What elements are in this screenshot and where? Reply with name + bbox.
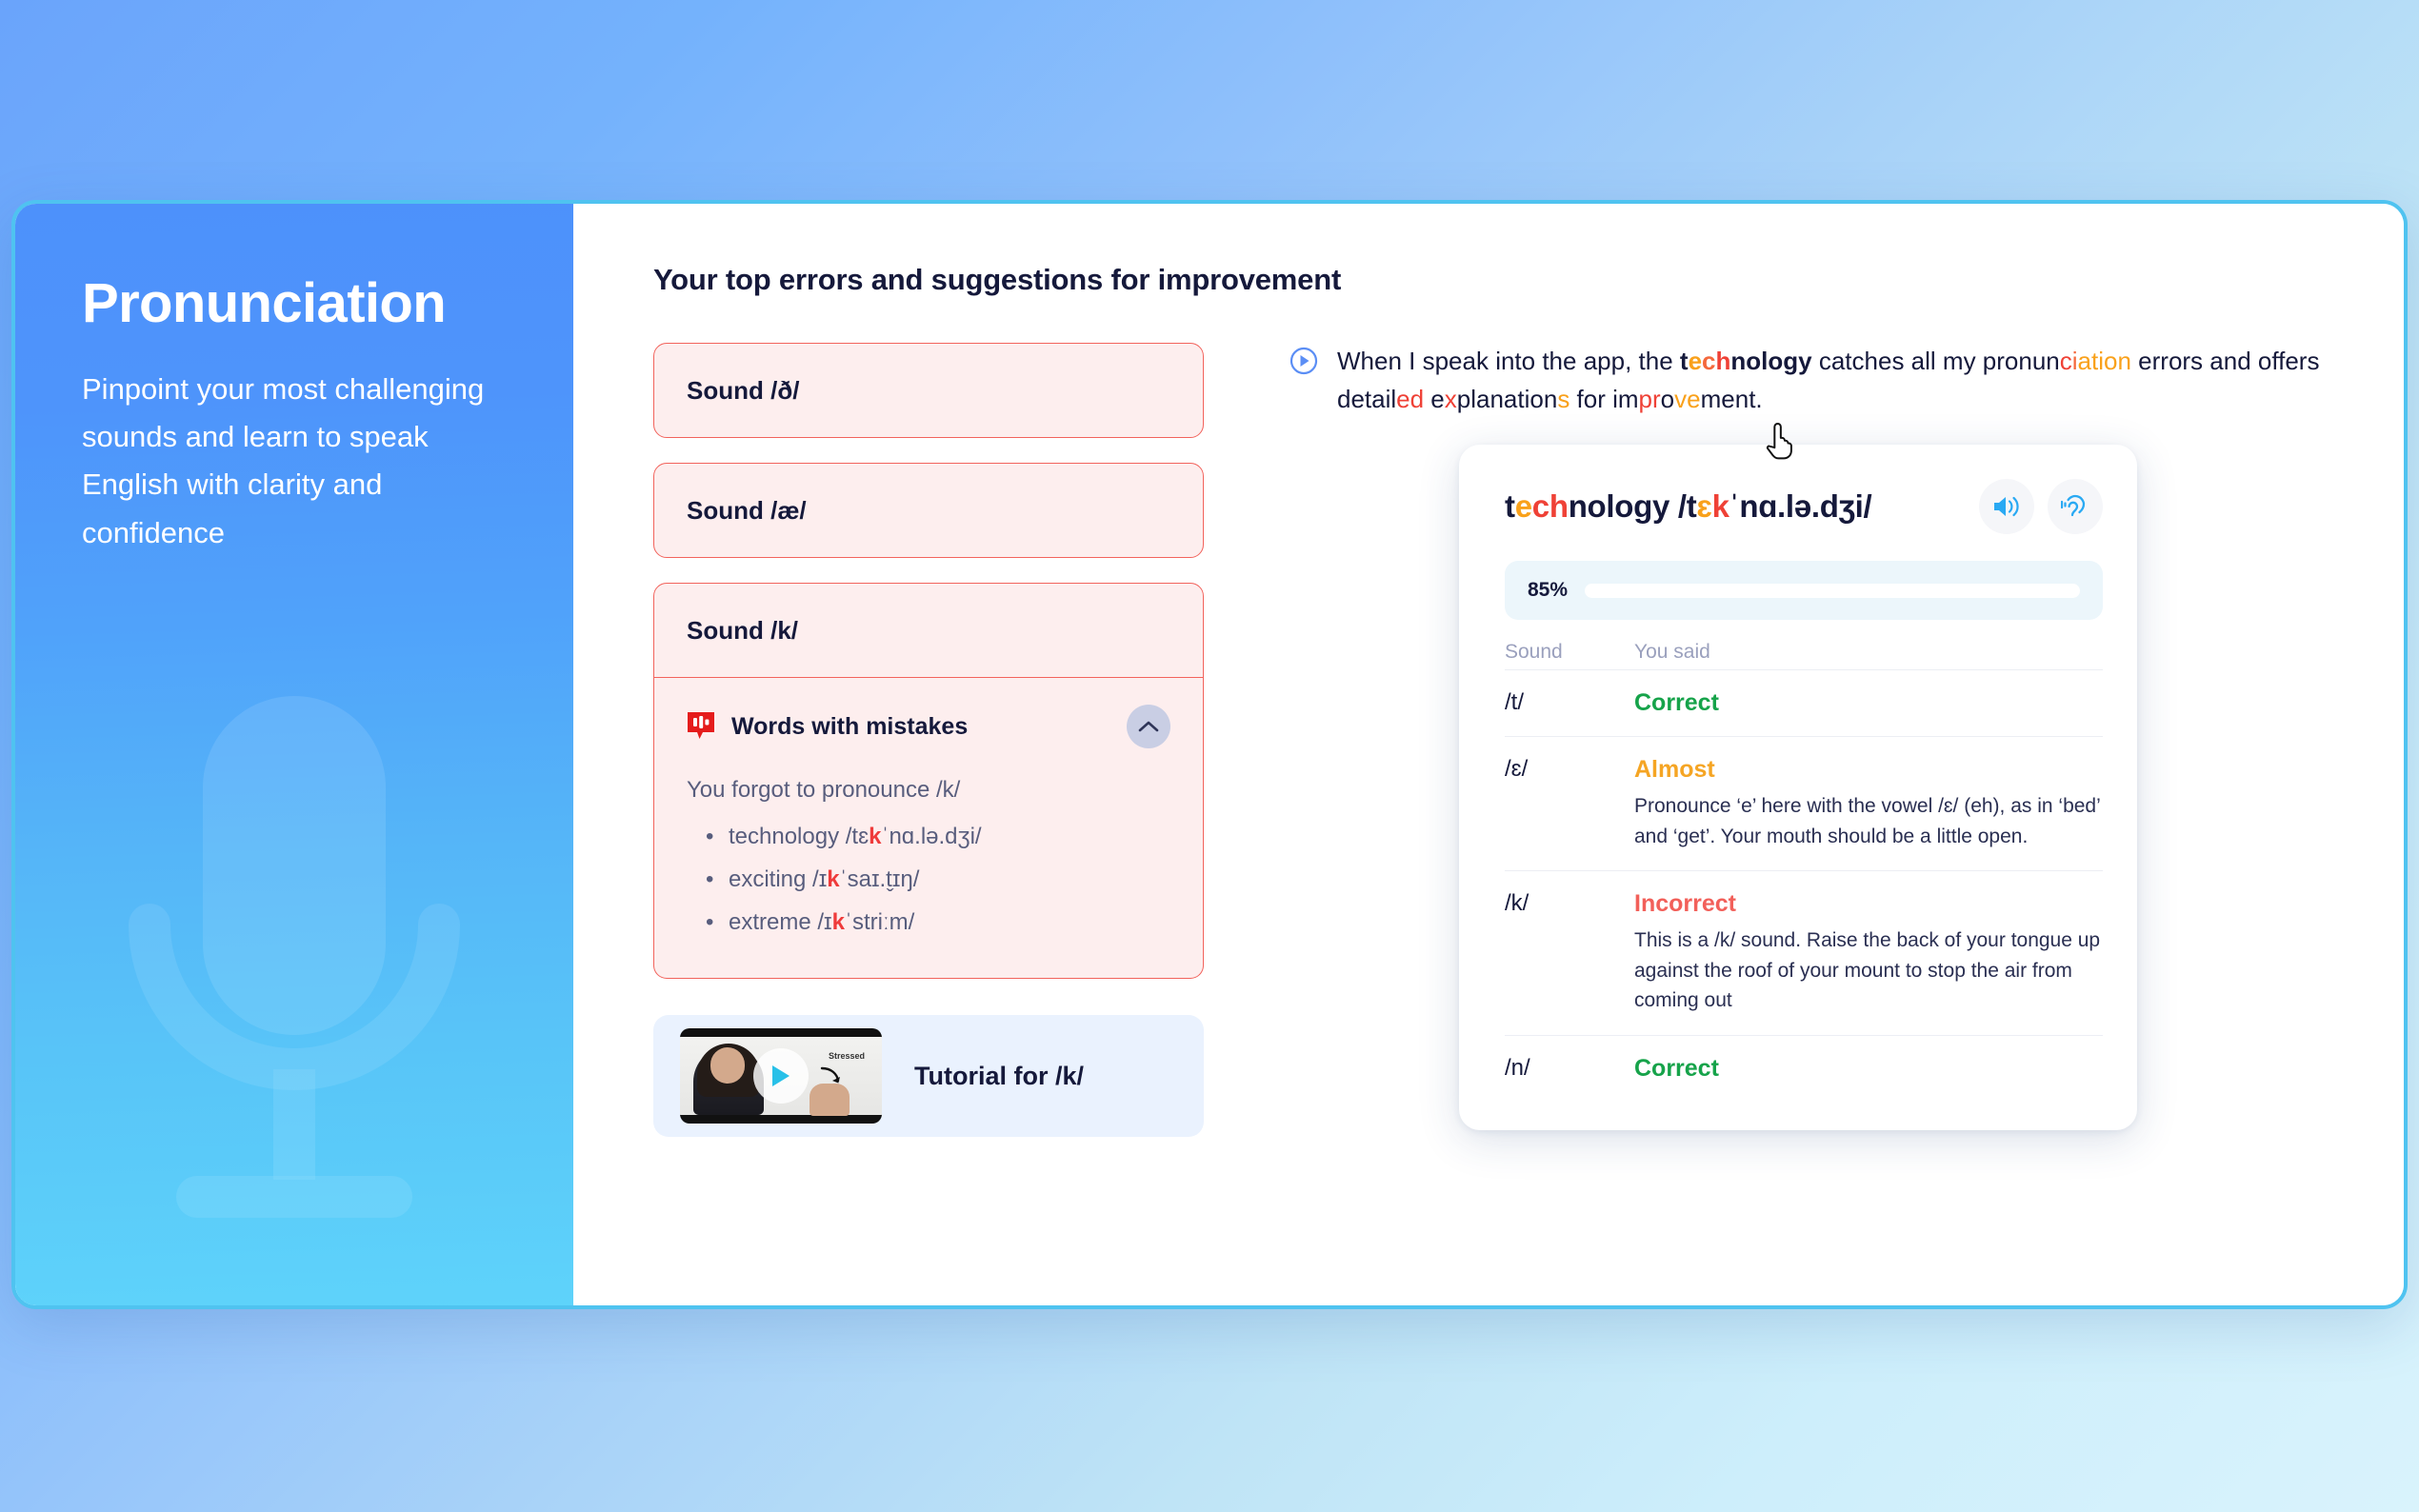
list-item: exciting /ɪkˈsaɪ.t̬ɪŋ/ <box>687 858 1170 901</box>
detail-word-segment: h <box>1549 488 1569 524</box>
microphone-icon <box>85 677 504 1305</box>
transcript-segment: s <box>1557 385 1569 413</box>
sound-card-label: Sound /ð/ <box>687 376 799 406</box>
transcript-segment: ation <box>2078 347 2131 375</box>
table-row: /n/ Correct <box>1505 1035 2103 1102</box>
transcript-segment: planation <box>1457 385 1558 413</box>
words-with-mistakes-panel: Words with mistakes You forgot to pronou… <box>653 678 1204 979</box>
mistakes-title: Words with mistakes <box>731 713 1110 741</box>
sound-card-0[interactable]: Sound /ð/ <box>653 343 1204 438</box>
page-description: Pinpoint your most challenging sounds an… <box>82 366 507 557</box>
forgot-line: You forgot to pronounce /k/ <box>687 777 1170 804</box>
transcript-segment: for im <box>1569 385 1638 413</box>
row-sound: /ɛ/ <box>1505 756 1634 851</box>
column-header-sound: Sound <box>1505 641 1634 664</box>
detail-word-segment: e <box>1515 488 1532 524</box>
sound-card-label: Sound /k/ <box>687 616 798 646</box>
list-item: extreme /ɪkˈstriːm/ <box>687 901 1170 944</box>
transcript-segment: o <box>1661 385 1674 413</box>
transcript: When I speak into the app, the technolog… <box>1289 343 2343 418</box>
content-area: Your top errors and suggestions for impr… <box>573 204 2404 1305</box>
transcript-text: When I speak into the app, the technolog… <box>1337 343 2343 418</box>
progress-track <box>1585 584 2080 598</box>
detail-word-segment: ˈnɑ.lə.dʒi/ <box>1729 488 1872 524</box>
table-row: /ɛ/ Almost Pronounce ‘e’ here with the v… <box>1505 736 2103 870</box>
tutorial-card[interactable]: Stressed Tutorial for /k/ <box>653 1015 1204 1137</box>
play-icon <box>770 1064 792 1088</box>
speaker-button[interactable] <box>1979 479 2034 534</box>
detail-word-segment: /t <box>1678 488 1697 524</box>
sound-card-1[interactable]: Sound /æ/ <box>653 463 1204 558</box>
speaker-icon <box>1992 494 2021 519</box>
detail-word-segment: t <box>1505 488 1515 524</box>
detail-word: technology /tɛkˈnɑ.lə.dʒi/ <box>1505 488 1966 525</box>
chevron-up-icon <box>1138 720 1159 733</box>
errors-column: Sound /ð/ Sound /æ/ Sound /k/ <box>653 343 1204 1137</box>
score-progress: 85% <box>1505 561 2103 620</box>
table-row: /t/ Correct <box>1505 669 2103 736</box>
play-circle-icon <box>1289 347 1318 375</box>
detail-column: When I speak into the app, the technolog… <box>1204 343 2343 1137</box>
transcript-segment: ment. <box>1701 385 1763 413</box>
transcript-segment: pr <box>1639 385 1661 413</box>
transcript-segment: ed <box>1396 385 1424 413</box>
transcript-segment: catches all my pronun <box>1812 347 2060 375</box>
transcript-segment: h <box>1716 347 1731 375</box>
detail-word-segment: k <box>1712 488 1729 524</box>
column-header-you-said: You said <box>1634 641 1710 664</box>
row-verdict: Correct <box>1634 689 1719 716</box>
transcript-segment: e <box>1689 347 1702 375</box>
transcript-segment: v <box>1674 385 1687 413</box>
row-verdict: Correct <box>1634 1055 1719 1082</box>
listen-button[interactable] <box>2048 479 2103 534</box>
sound-card-2[interactable]: Sound /k/ <box>653 583 1204 678</box>
collapse-toggle-button[interactable] <box>1127 705 1170 748</box>
row-tip: This is a /k/ sound. Raise the back of y… <box>1634 925 2103 1016</box>
transcript-segment: e <box>1424 385 1445 413</box>
row-verdict: Incorrect <box>1634 890 1736 917</box>
detail-word-segment: nology <box>1569 488 1678 524</box>
score-percent: 85% <box>1528 579 1568 602</box>
row-sound: /t/ <box>1505 689 1634 717</box>
ear-listen-icon <box>2061 493 2089 520</box>
thumbnail-caption: Stressed <box>829 1051 865 1061</box>
row-sound: /k/ <box>1505 890 1634 1016</box>
transcript-segment: e <box>1687 385 1700 413</box>
transcript-play-button[interactable] <box>1289 347 1318 380</box>
promo-panel: Pronunciation Pinpoint your most challen… <box>15 204 573 1305</box>
table-row: /k/ Incorrect This is a /k/ sound. Raise… <box>1505 870 2103 1035</box>
transcript-segment: nology <box>1730 347 1811 375</box>
row-sound: /n/ <box>1505 1055 1634 1083</box>
transcript-segment: When I speak into the app, the <box>1337 347 1680 375</box>
mistake-word-list: technology /tɛkˈnɑ.lə.dʒi/ exciting /ɪkˈ… <box>687 815 1170 944</box>
transcript-segment: c <box>1702 347 1715 375</box>
tutorial-thumbnail[interactable]: Stressed <box>680 1028 882 1124</box>
play-button[interactable] <box>753 1048 809 1104</box>
app-window: Pronunciation Pinpoint your most challen… <box>11 200 2408 1309</box>
row-tip: Pronounce ‘e’ here with the vowel /ɛ/ (e… <box>1634 791 2103 851</box>
sound-card-label: Sound /æ/ <box>687 496 807 526</box>
curved-arrow-icon <box>819 1066 844 1087</box>
sounds-table-header: Sound You said <box>1505 641 2103 669</box>
transcript-segment: t <box>1680 347 1689 375</box>
row-verdict: Almost <box>1634 756 1715 783</box>
list-item: technology /tɛkˈnɑ.lə.dʒi/ <box>687 815 1170 858</box>
section-title: Your top errors and suggestions for impr… <box>653 263 2343 297</box>
tutorial-label: Tutorial for /k/ <box>914 1062 1084 1091</box>
transcript-segment: c <box>2060 347 2072 375</box>
words-mistake-badge-icon <box>687 711 715 742</box>
page-title: Pronunciation <box>82 275 507 333</box>
word-detail-card: technology /tɛkˈnɑ.lə.dʒi/ <box>1459 445 2137 1130</box>
detail-word-segment: ɛ <box>1696 488 1711 524</box>
transcript-segment: x <box>1445 385 1457 413</box>
detail-word-segment: c <box>1532 488 1549 524</box>
